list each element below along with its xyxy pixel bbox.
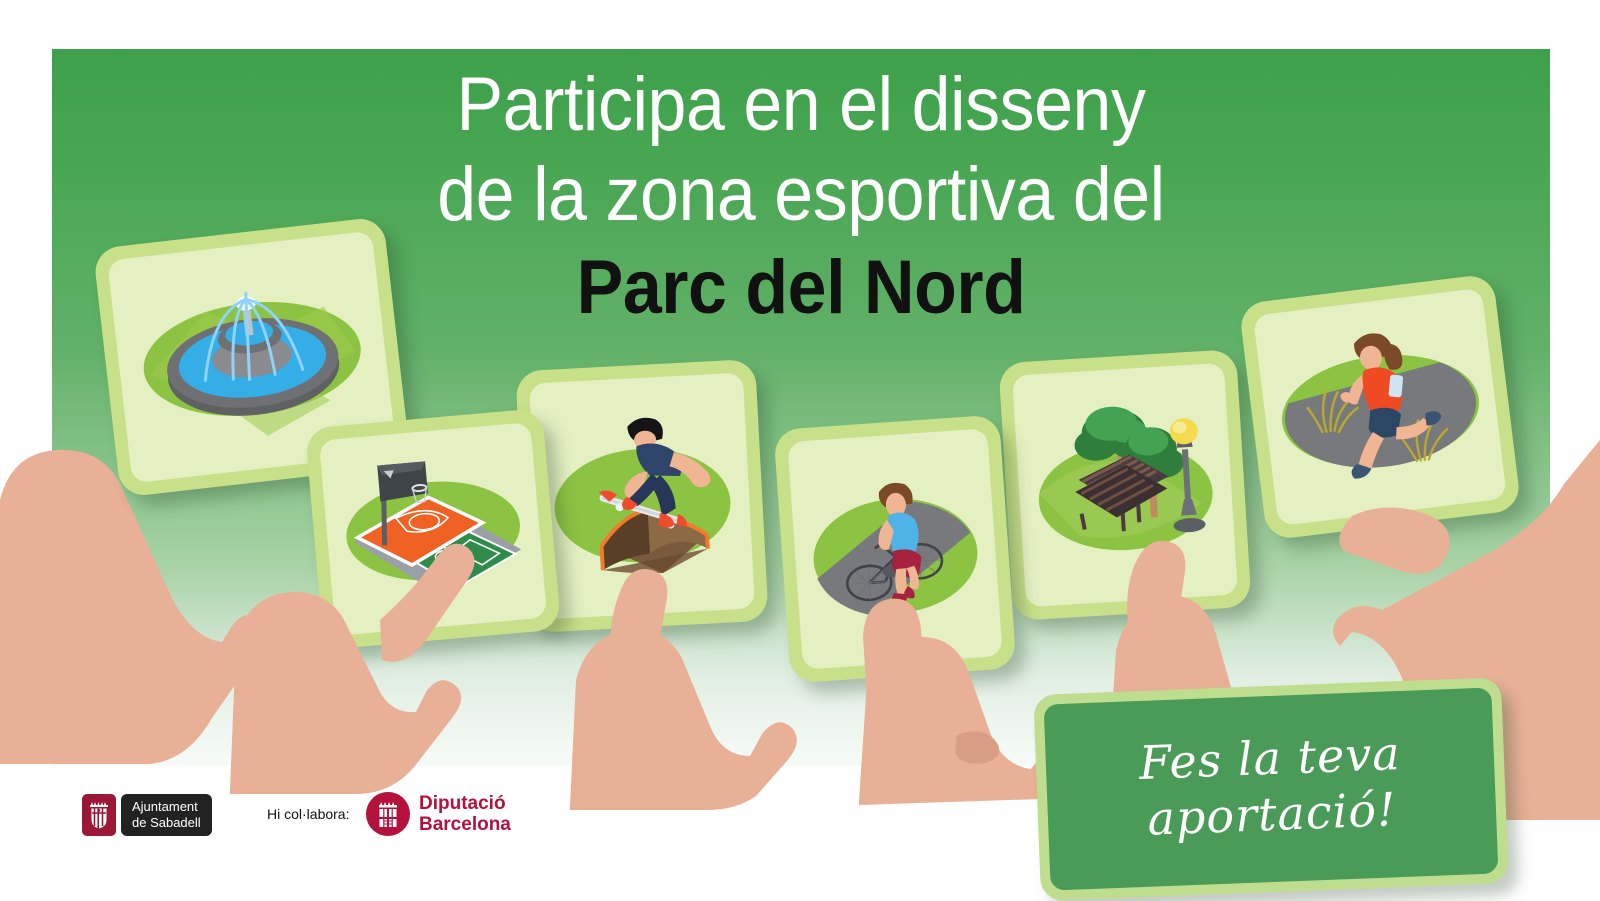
logo-diputacio-barcelona[interactable]: Diputació Barcelona <box>366 792 511 836</box>
hand-skate-pointer <box>560 530 830 810</box>
footer-logos: Ajuntament de Sabadell Hi col·labora: Di… <box>0 780 1600 870</box>
poster-stage: Participa en el disseny de la zona espor… <box>0 0 1600 900</box>
ajuntament-line-2: de Sabadell <box>132 815 201 831</box>
sabadell-coat-of-arms-icon <box>82 794 116 836</box>
hand-court-pointer <box>230 500 530 800</box>
diputacio-name-box: Diputació Barcelona <box>419 793 511 835</box>
logo-ajuntament-sabadell[interactable]: Ajuntament de Sabadell <box>82 794 212 836</box>
diputacio-barcelona-crest-icon <box>366 792 410 836</box>
ajuntament-line-1: Ajuntament <box>132 799 201 815</box>
ajuntament-name-box: Ajuntament de Sabadell <box>121 794 212 836</box>
collaborator-label: Hi col·labora: <box>267 806 349 822</box>
diputacio-line-1: Diputació <box>419 793 511 814</box>
diputacio-line-2: Barcelona <box>419 814 511 835</box>
